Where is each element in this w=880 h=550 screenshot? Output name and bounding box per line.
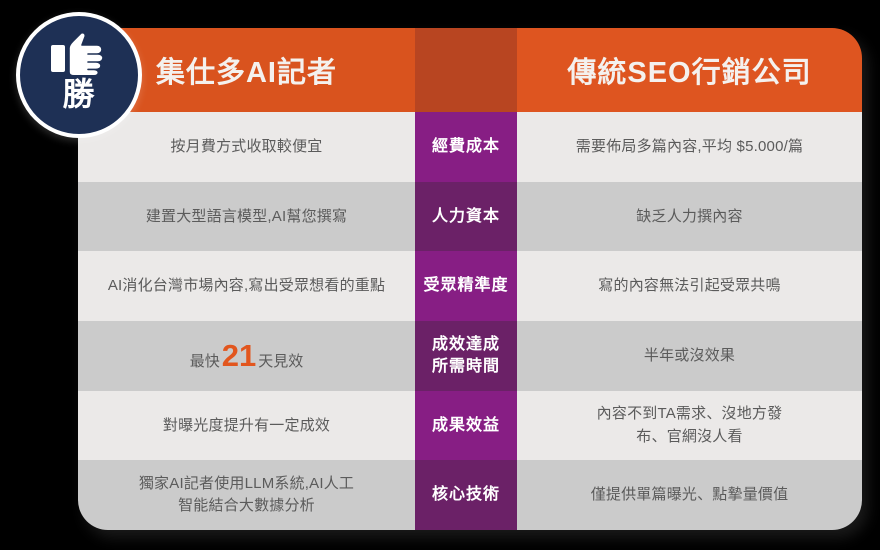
table-row: 獨家AI記者使用LLM系統,AI人工智能結合大數據分析 核心技術 僅提供單篇曝光… — [78, 460, 862, 530]
row-text-ours-highlight: 最快 21 天見效 — [190, 340, 304, 371]
row-text-ours: AI消化台灣市場內容,寫出受眾想看的重點 — [108, 275, 385, 297]
row-text-theirs: 半年或沒效果 — [644, 345, 735, 367]
row-text-theirs: 僅提供單篇曝光、點摯量價值 — [591, 484, 789, 506]
row-cell-ours: 按月費方式收取較便宜 — [78, 112, 415, 182]
row-cell-theirs: 需要佈局多篇內容,平均 $5.000/篇 — [517, 112, 862, 182]
header-title-ours: 集仕多AI記者 — [156, 49, 337, 91]
header-cell-theirs: 傳統SEO行銷公司 — [517, 28, 862, 112]
row-text-ours: 按月費方式收取較便宜 — [170, 136, 322, 158]
table-row: 建置大型語言模型,AI幫您撰寫 人力資本 缺乏人力撰內容 — [78, 182, 862, 252]
header-cell-criteria — [415, 28, 517, 112]
row-text-ours: 建置大型語言模型,AI幫您撰寫 — [146, 206, 347, 228]
row-label-criteria: 核心技術 — [432, 484, 500, 506]
row-label-criteria: 成效達成所需時間 — [432, 334, 500, 377]
row-text-theirs: 需要佈局多篇內容,平均 $5.000/篇 — [576, 136, 803, 158]
row-cell-theirs: 寫的內容無法引起受眾共鳴 — [517, 251, 862, 321]
row-cell-criteria: 成果效益 — [415, 391, 517, 461]
row-cell-criteria: 經費成本 — [415, 112, 517, 182]
highlight-suffix: 天見效 — [258, 350, 303, 371]
table-header-row: 集仕多AI記者 傳統SEO行銷公司 — [78, 28, 862, 112]
row-cell-criteria: 核心技術 — [415, 460, 517, 530]
row-cell-ours: 對曝光度提升有一定成效 — [78, 391, 415, 461]
row-cell-ours: AI消化台灣市場內容,寫出受眾想看的重點 — [78, 251, 415, 321]
row-text-theirs: 內容不到TA需求、沒地方發布、官網沒人看 — [597, 403, 783, 448]
highlight-number: 21 — [220, 340, 258, 371]
row-cell-ours: 獨家AI記者使用LLM系統,AI人工智能結合大數據分析 — [78, 460, 415, 530]
row-label-criteria: 成果效益 — [432, 415, 500, 437]
row-cell-ours: 最快 21 天見效 — [78, 321, 415, 391]
row-cell-theirs: 缺乏人力撰內容 — [517, 182, 862, 252]
row-cell-ours: 建置大型語言模型,AI幫您撰寫 — [78, 182, 415, 252]
row-cell-criteria: 人力資本 — [415, 182, 517, 252]
row-cell-theirs: 半年或沒效果 — [517, 321, 862, 391]
row-text-theirs: 缺乏人力撰內容 — [636, 206, 742, 228]
thumbs-up-icon — [50, 32, 108, 76]
row-label-criteria: 經費成本 — [432, 136, 500, 158]
row-text-ours: 對曝光度提升有一定成效 — [163, 415, 330, 437]
badge-label: 勝 — [62, 78, 95, 110]
table-row: AI消化台灣市場內容,寫出受眾想看的重點 受眾精準度 寫的內容無法引起受眾共鳴 — [78, 251, 862, 321]
highlight-prefix: 最快 — [190, 350, 220, 371]
table-row: 對曝光度提升有一定成效 成果效益 內容不到TA需求、沒地方發布、官網沒人看 — [78, 391, 862, 461]
table-row: 最快 21 天見效 成效達成所需時間 半年或沒效果 — [78, 321, 862, 391]
table-row: 按月費方式收取較便宜 經費成本 需要佈局多篇內容,平均 $5.000/篇 — [78, 112, 862, 182]
table-body: 按月費方式收取較便宜 經費成本 需要佈局多篇內容,平均 $5.000/篇 建置大… — [78, 112, 862, 530]
row-cell-criteria: 受眾精準度 — [415, 251, 517, 321]
win-badge: 勝 — [16, 12, 142, 138]
row-cell-theirs: 僅提供單篇曝光、點摯量價值 — [517, 460, 862, 530]
row-cell-criteria: 成效達成所需時間 — [415, 321, 517, 391]
row-text-theirs: 寫的內容無法引起受眾共鳴 — [598, 275, 780, 297]
header-title-theirs: 傳統SEO行銷公司 — [567, 49, 811, 91]
comparison-table: 集仕多AI記者 傳統SEO行銷公司 按月費方式收取較便宜 經費成本 需要佈局多篇… — [78, 28, 862, 530]
row-text-ours: 獨家AI記者使用LLM系統,AI人工智能結合大數據分析 — [139, 473, 354, 518]
row-cell-theirs: 內容不到TA需求、沒地方發布、官網沒人看 — [517, 391, 862, 461]
row-label-criteria: 人力資本 — [432, 206, 500, 228]
row-label-criteria: 受眾精準度 — [423, 275, 508, 297]
comparison-table-stage: 集仕多AI記者 傳統SEO行銷公司 按月費方式收取較便宜 經費成本 需要佈局多篇… — [0, 0, 880, 550]
